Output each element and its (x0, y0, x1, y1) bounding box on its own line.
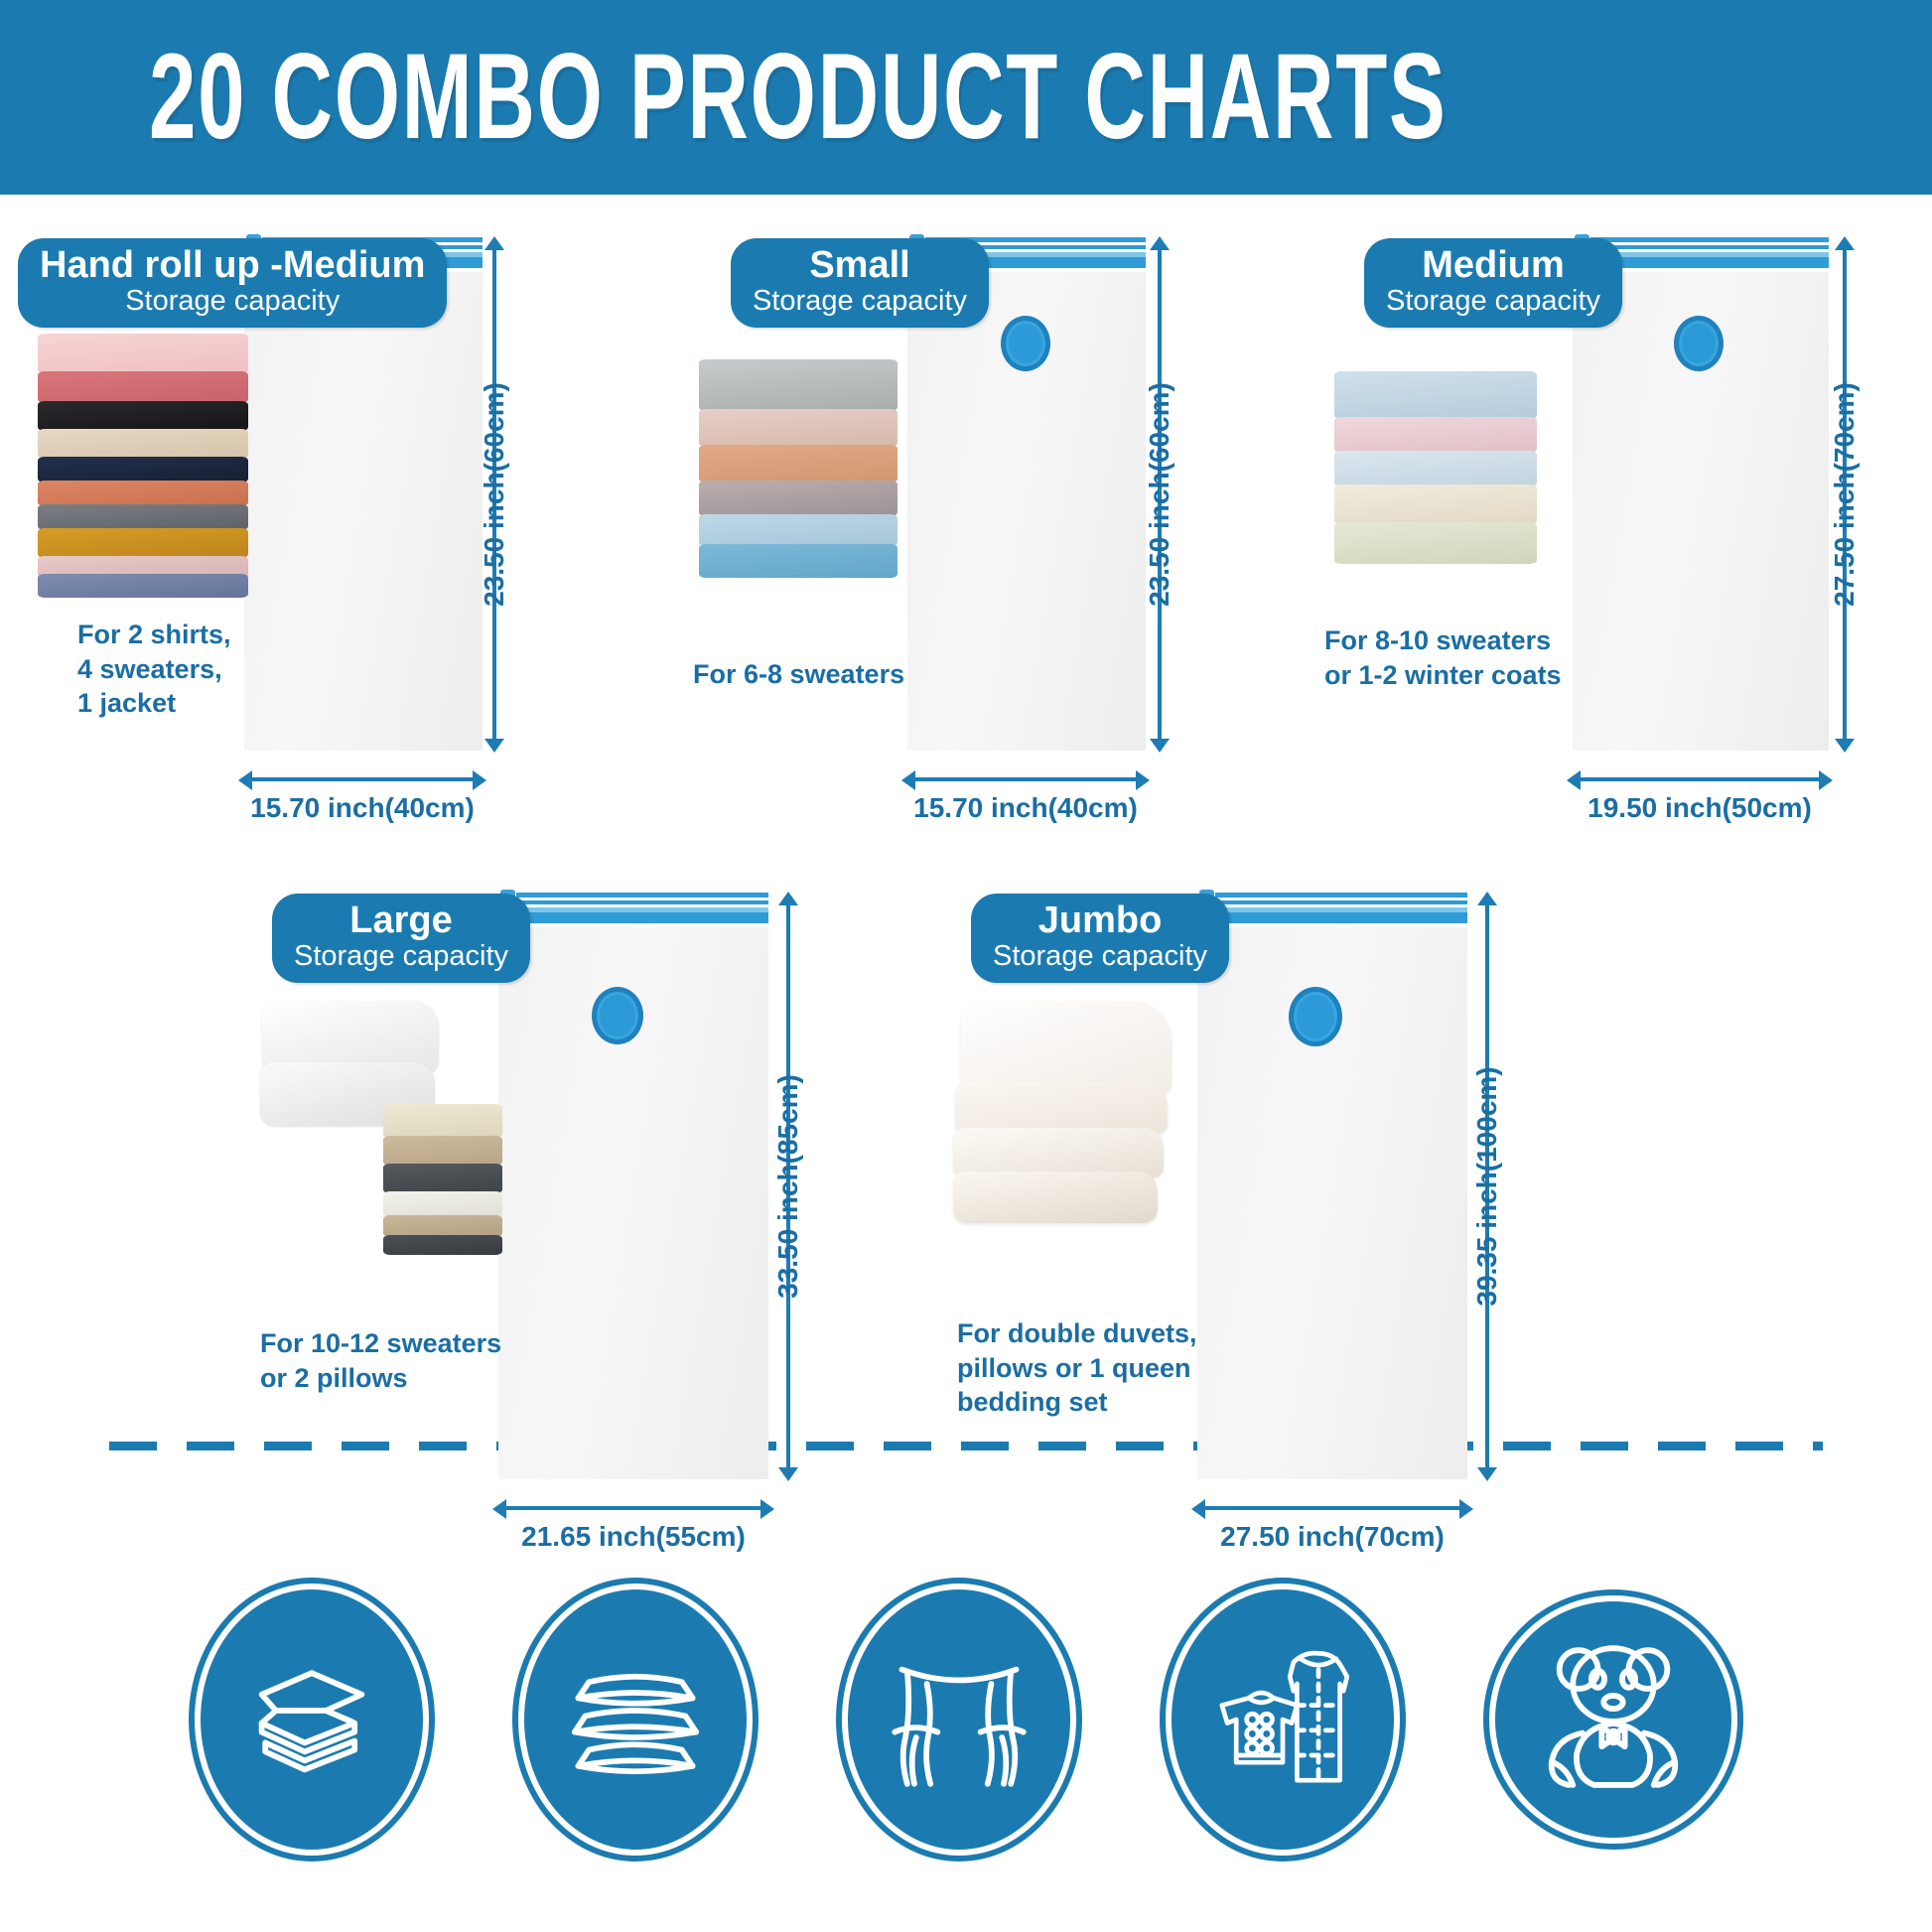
product-badge: Medium Storage capacity (1364, 238, 1622, 328)
product-badge: Hand roll up -Medium Storage capacity (18, 238, 447, 328)
product-caption: For 2 shirts, 4 sweaters, 1 jacket (77, 618, 231, 721)
product-name: Small (753, 246, 967, 286)
bag-body (244, 272, 483, 751)
folded-blankets-icon (189, 1578, 435, 1862)
product-badge: Large Storage capacity (272, 894, 530, 983)
use-case-icon-row (0, 1541, 1932, 1898)
width-dimension: 15.70 inch(40cm) (901, 768, 1150, 824)
height-dimension: 23.50 inch(60cm) (1132, 236, 1187, 753)
product-subtitle: Storage capacity (1386, 286, 1600, 316)
product-cell-medium: Medium Storage capacity For 8-10 sweater… (1287, 195, 1930, 810)
product-row-2: Large Storage capacity For 10-12 sweater… (244, 850, 1932, 1485)
product-name: Jumbo (993, 901, 1207, 941)
product-row-1: Hand roll up -Medium Storage capacity Fo… (0, 195, 1932, 810)
product-cell-small: Small Storage capacity For 6-8 sweaters (643, 195, 1287, 810)
width-label: 15.70 inch(40cm) (238, 792, 486, 824)
product-cell-hand-roll-up-medium: Hand roll up -Medium Storage capacity Fo… (0, 195, 643, 810)
height-label: 23.50 inch(60cm) (479, 382, 510, 607)
curtains-icon (836, 1578, 1082, 1862)
product-contents-photo (699, 359, 897, 574)
teddy-bear-icon (1483, 1589, 1743, 1850)
product-contents-photo (953, 1001, 1181, 1229)
header-banner: 20 COMBO PRODUCT CHARTS (0, 0, 1932, 195)
width-dimension: 27.50 inch(70cm) (1191, 1497, 1473, 1553)
product-subtitle: Storage capacity (40, 286, 425, 316)
vacuum-valve-icon (1289, 987, 1342, 1046)
product-caption: For 8-10 sweaters or 1-2 winter coats (1324, 623, 1562, 692)
product-caption: For 10-12 sweaters or 2 pillows (260, 1326, 501, 1395)
width-dimension: 21.65 inch(55cm) (492, 1497, 774, 1553)
zipper-seal (1197, 892, 1467, 925)
product-caption: For double duvets, pillows or 1 queen be… (957, 1316, 1197, 1420)
height-dimension: 23.50 inch(60cm) (467, 236, 522, 753)
width-label: 27.50 inch(70cm) (1191, 1521, 1473, 1553)
dashed-divider (109, 1442, 1823, 1450)
vacuum-valve-icon (1001, 316, 1050, 371)
product-subtitle: Storage capacity (993, 941, 1207, 971)
product-cell-large: Large Storage capacity For 10-12 sweater… (244, 850, 943, 1485)
product-cell-jumbo: Jumbo Storage capacity For double duvets… (943, 850, 1642, 1485)
product-contents-photo (1334, 371, 1537, 566)
width-label: 21.65 inch(55cm) (492, 1521, 774, 1553)
height-dimension: 27.50 inch(70cm) (1817, 236, 1872, 753)
width-label: 19.50 inch(50cm) (1567, 792, 1833, 824)
zipper-seal (498, 892, 768, 925)
height-dimension: 39.35 inch(100cm) (1459, 892, 1515, 1481)
storage-bag (498, 892, 768, 1479)
storage-bag (1197, 892, 1467, 1479)
product-subtitle: Storage capacity (294, 941, 508, 971)
product-badge: Small Storage capacity (731, 238, 989, 328)
product-name: Large (294, 901, 508, 941)
page-title: 20 COMBO PRODUCT CHARTS (149, 28, 1448, 167)
stacked-pillows-icon (512, 1578, 759, 1862)
height-dimension: 33.50 inch(85cm) (760, 892, 816, 1481)
height-label: 33.50 inch(85cm) (772, 1074, 804, 1299)
height-label: 27.50 inch(70cm) (1829, 382, 1861, 607)
vacuum-valve-icon (592, 987, 643, 1044)
width-dimension: 15.70 inch(40cm) (238, 768, 486, 824)
height-label: 23.50 inch(60cm) (1144, 382, 1175, 607)
product-subtitle: Storage capacity (753, 286, 967, 316)
vacuum-valve-icon (1674, 316, 1724, 371)
width-label: 15.70 inch(40cm) (901, 792, 1150, 824)
product-contents-photo (258, 997, 508, 1251)
product-name: Medium (1386, 246, 1600, 286)
height-label: 39.35 inch(100cm) (1471, 1066, 1503, 1306)
width-dimension: 19.50 inch(50cm) (1567, 768, 1833, 824)
product-name: Hand roll up -Medium (40, 246, 425, 286)
product-caption: For 6-8 sweaters (693, 657, 904, 692)
product-badge: Jumbo Storage capacity (971, 894, 1229, 983)
product-contents-photo (38, 334, 248, 592)
sweater-and-coat-icon (1160, 1578, 1406, 1862)
